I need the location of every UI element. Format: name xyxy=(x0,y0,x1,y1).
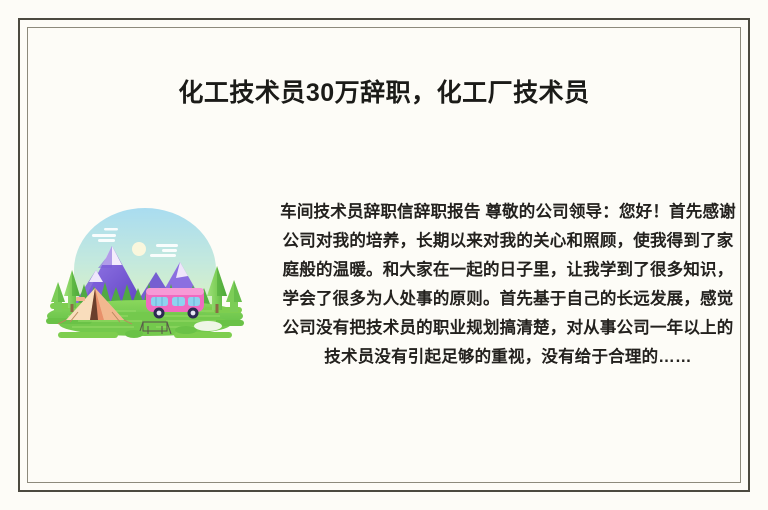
page-title: 化工技术员30万辞职，化工厂技术员 xyxy=(0,78,768,108)
article-content-row: 车间技术员辞职信辞职报告 尊敬的公司领导：您好！首先感谢公司对我的培养，长期以来… xyxy=(28,198,740,413)
camping-scene-illustration xyxy=(38,208,252,350)
article-body-text: 车间技术员辞职信辞职报告 尊敬的公司领导：您好！首先感谢公司对我的培养，长期以来… xyxy=(280,198,740,372)
